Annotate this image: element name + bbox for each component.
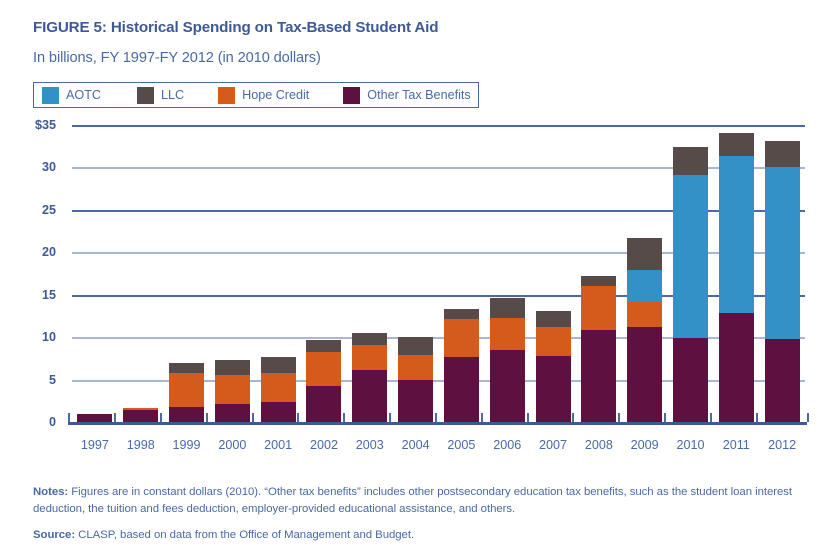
x-axis-tick-label-2006: 2006 <box>493 438 521 452</box>
x-axis-labels: 1997199819992000200120022003200420052006… <box>72 438 805 458</box>
x-tick-2012 <box>756 413 758 422</box>
legend-swatch-icon <box>42 87 59 104</box>
y-axis-tick-label-20: 20 <box>42 245 56 259</box>
y-axis-tick-label-0: 0 <box>49 415 56 429</box>
legend-swatch-icon <box>137 87 154 104</box>
x-axis-tick-label-1998: 1998 <box>127 438 155 452</box>
legend-item-label: LLC <box>161 88 184 102</box>
x-tick-2005 <box>435 413 437 422</box>
x-axis-tick-label-2001: 2001 <box>264 438 292 452</box>
y-axis-tick-label-25: 25 <box>42 203 56 217</box>
footer-notes-text: Figures are in constant dollars (2010). … <box>33 486 792 515</box>
legend-swatch-icon <box>343 87 360 104</box>
y-axis-tick-label-35: $35 <box>35 118 56 132</box>
legend-item-llc: LLC <box>137 83 184 107</box>
y-axis-tick-label-5: 5 <box>49 373 56 387</box>
x-axis-tick-label-2002: 2002 <box>310 438 338 452</box>
x-axis-tick-label-1997: 1997 <box>81 438 109 452</box>
x-axis-tick-label-1999: 1999 <box>173 438 201 452</box>
x-axis-ticks <box>72 125 805 422</box>
legend-item-label: Other Tax Benefits <box>367 88 470 102</box>
x-tick-1999 <box>160 413 162 422</box>
y-axis-tick-label-15: 15 <box>42 288 56 302</box>
x-tick-2010 <box>664 413 666 422</box>
x-tick-2000 <box>206 413 208 422</box>
x-axis-line <box>68 422 807 425</box>
x-tick-2011 <box>710 413 712 422</box>
y-axis-tick-label-30: 30 <box>42 160 56 174</box>
legend-item-aotc: AOTC <box>42 83 101 107</box>
legend-swatch-icon <box>218 87 235 104</box>
x-tick-end <box>807 413 809 422</box>
legend-item-other-tax-benefits: Other Tax Benefits <box>343 83 470 107</box>
footer-notes-label: Notes: <box>33 486 68 498</box>
x-tick-1997 <box>68 413 70 422</box>
x-axis-tick-label-2000: 2000 <box>218 438 246 452</box>
x-tick-1998 <box>114 413 116 422</box>
x-tick-2009 <box>618 413 620 422</box>
x-tick-2004 <box>389 413 391 422</box>
x-tick-2001 <box>252 413 254 422</box>
y-axis-tick-label-10: 10 <box>42 330 56 344</box>
x-axis-tick-label-2011: 2011 <box>723 438 750 452</box>
x-axis-tick-label-2008: 2008 <box>585 438 613 452</box>
x-tick-2007 <box>527 413 529 422</box>
plot-area <box>72 125 805 430</box>
footer-notes: Notes: Figures are in constant dollars (… <box>33 484 813 518</box>
x-axis-tick-label-2004: 2004 <box>402 438 430 452</box>
legend-item-hope-credit: Hope Credit <box>218 83 309 107</box>
figure-subtitle: In billions, FY 1997-FY 2012 (in 2010 do… <box>33 50 321 66</box>
x-tick-2008 <box>572 413 574 422</box>
footer-source-label: Source: <box>33 529 75 541</box>
y-axis-labels: 051015202530$35 <box>0 125 66 430</box>
x-tick-2006 <box>481 413 483 422</box>
footer-source-text: CLASP, based on data from the Office of … <box>75 529 414 541</box>
x-axis-tick-label-2005: 2005 <box>447 438 475 452</box>
legend-item-label: Hope Credit <box>242 88 309 102</box>
x-axis-tick-label-2012: 2012 <box>768 438 796 452</box>
x-axis-tick-label-2007: 2007 <box>539 438 567 452</box>
x-tick-2002 <box>297 413 299 422</box>
figure-footer: Notes: Figures are in constant dollars (… <box>33 484 813 544</box>
chart-legend: AOTCLLCHope CreditOther Tax Benefits <box>33 82 479 108</box>
x-axis-tick-label-2003: 2003 <box>356 438 384 452</box>
footer-source: Source: CLASP, based on data from the Of… <box>33 527 813 544</box>
legend-item-label: AOTC <box>66 88 101 102</box>
x-axis-tick-label-2010: 2010 <box>676 438 704 452</box>
x-axis-tick-label-2009: 2009 <box>631 438 659 452</box>
page-title: FIGURE 5: Historical Spending on Tax-Bas… <box>33 19 438 36</box>
x-tick-2003 <box>343 413 345 422</box>
figure-container: FIGURE 5: Historical Spending on Tax-Bas… <box>0 0 837 552</box>
